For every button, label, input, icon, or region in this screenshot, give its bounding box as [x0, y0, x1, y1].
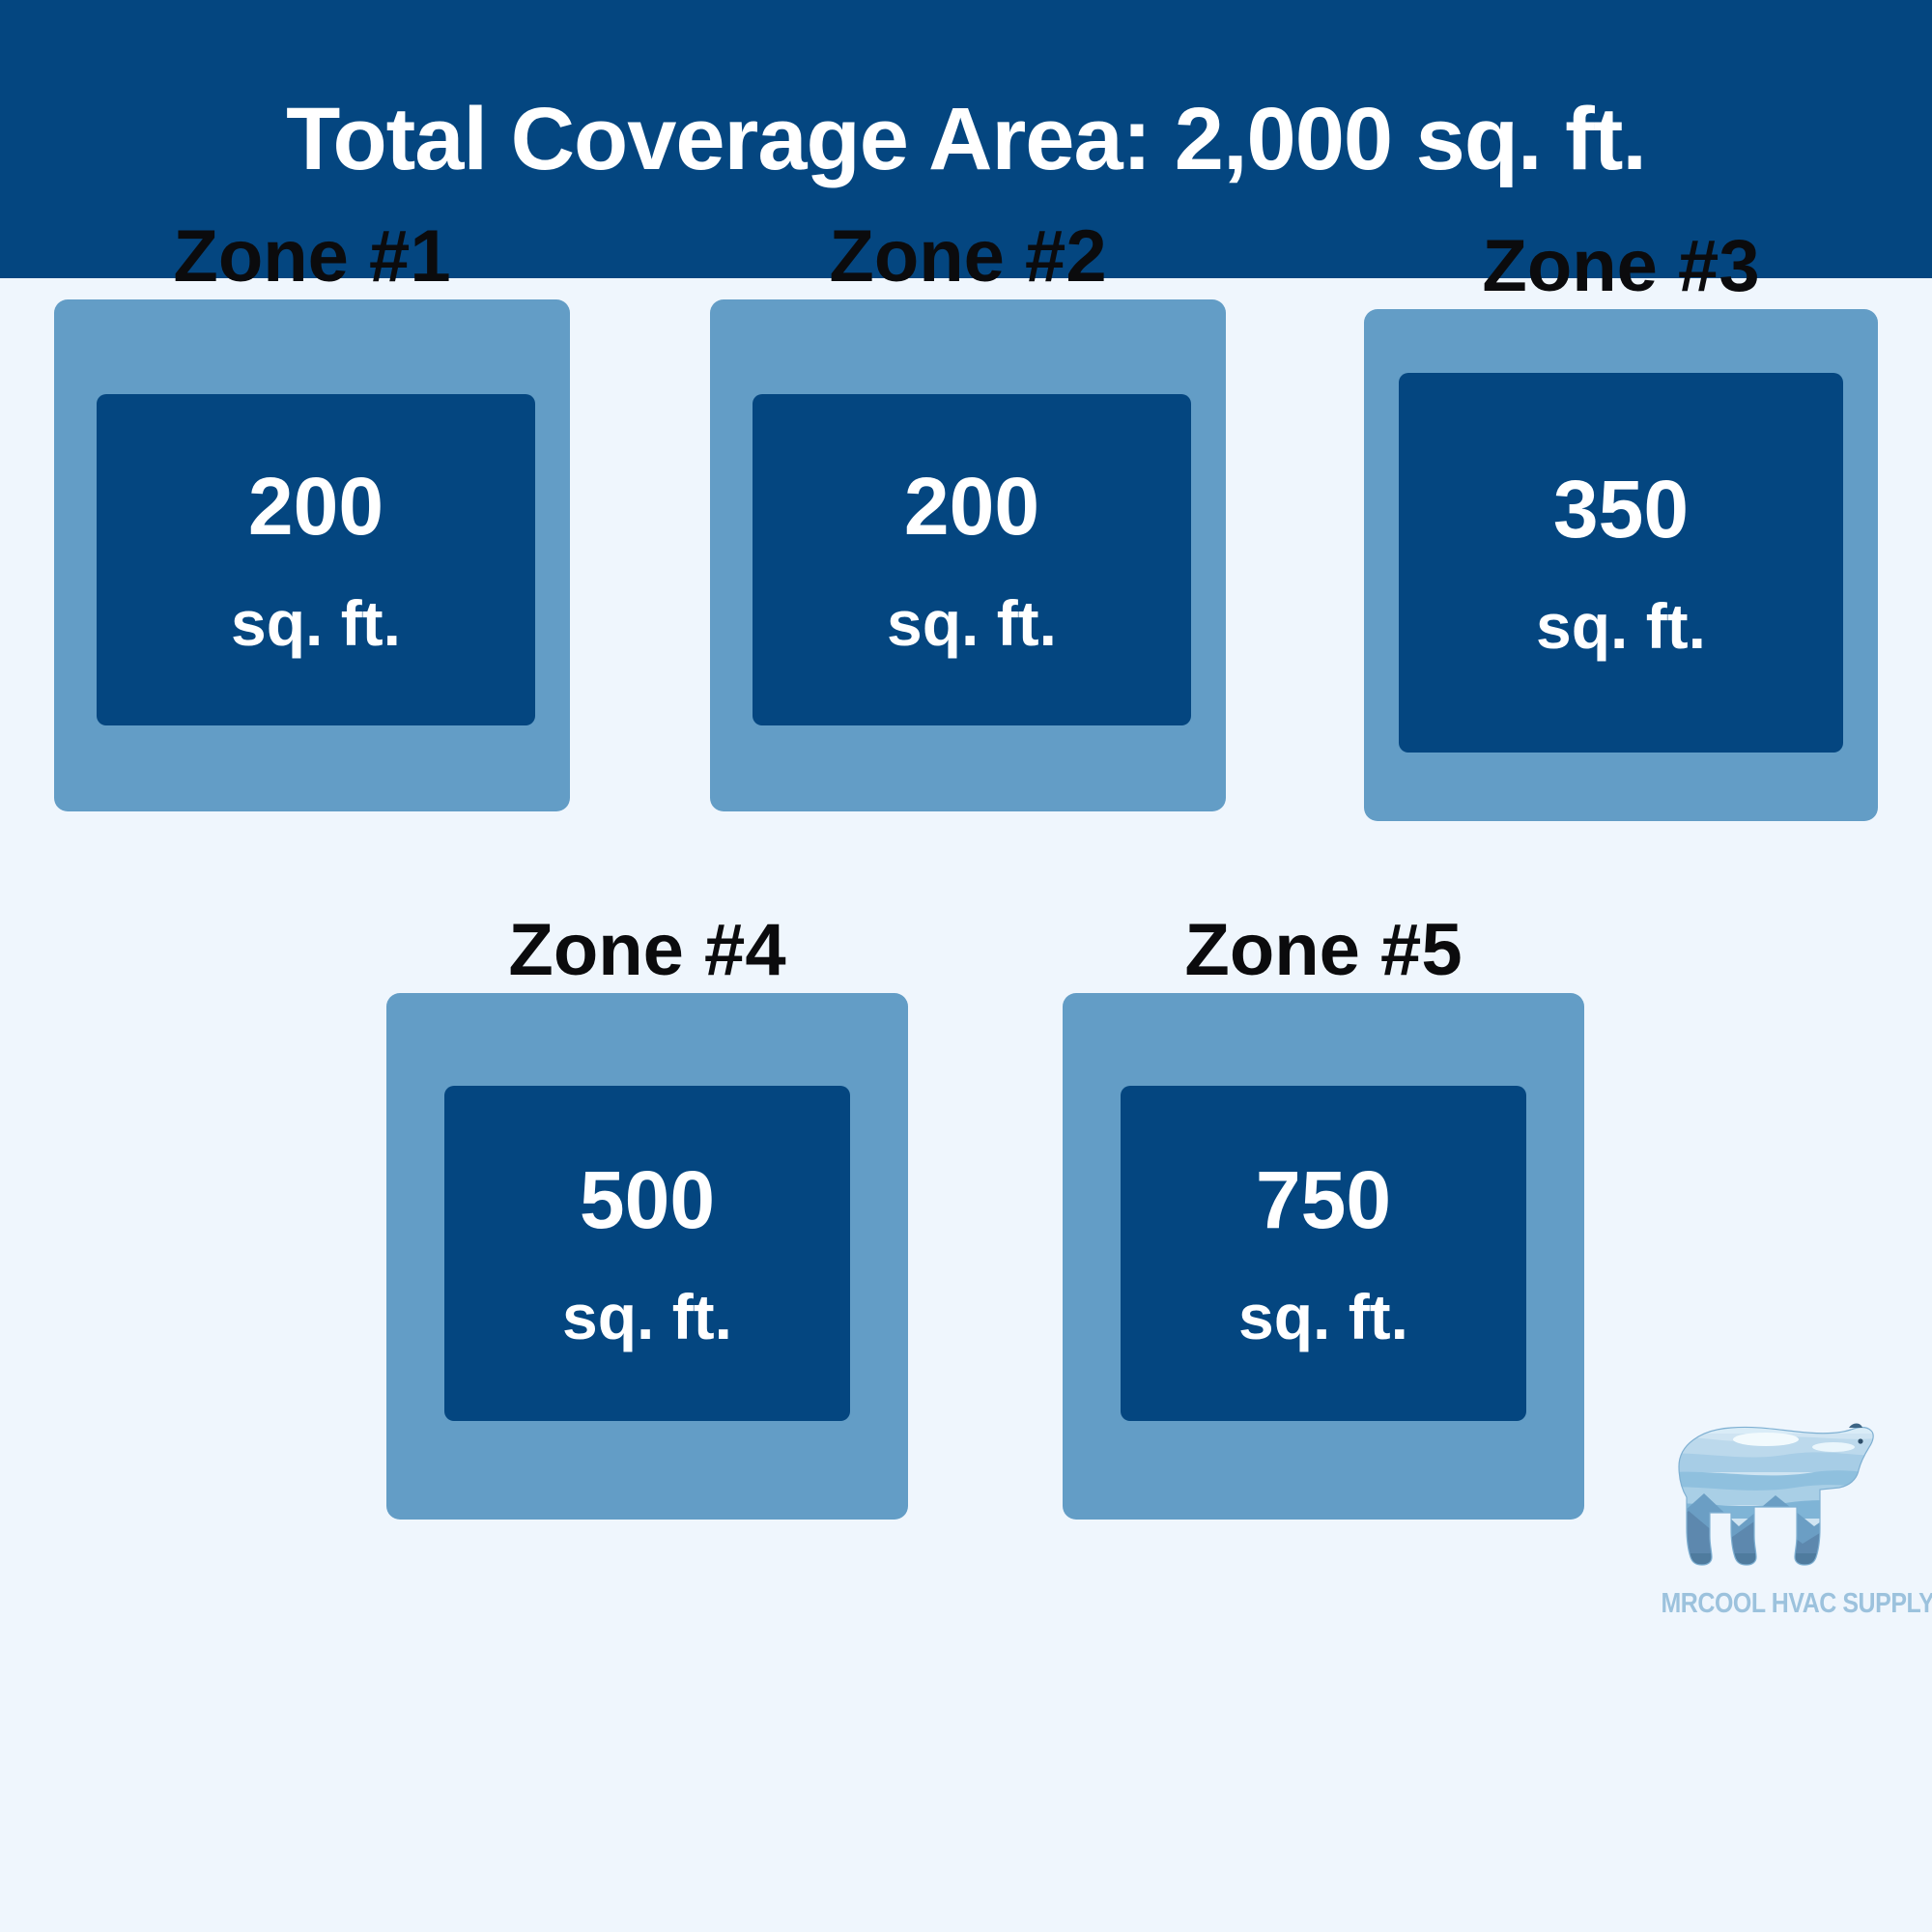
zone-card-5[interactable]: Zone #5 750 sq. ft.: [1063, 993, 1584, 1520]
zone-board: Zone #1 200 sq. ft. Zone #2 200 sq. ft. …: [0, 278, 1932, 1932]
zone-label-4: Zone #4: [386, 914, 908, 987]
polar-bear-icon: [1650, 1391, 1903, 1584]
zone-label-2: Zone #2: [710, 220, 1226, 294]
zone-card-2[interactable]: Zone #2 200 sq. ft.: [710, 299, 1226, 811]
zone-label-1: Zone #1: [54, 220, 570, 294]
zone-label-3: Zone #3: [1364, 230, 1878, 303]
zone-value-1: 200: [248, 466, 384, 547]
zone-outer-area-3: 350 sq. ft.: [1364, 309, 1878, 821]
zone-inner-area-3: 350 sq. ft.: [1399, 373, 1843, 753]
zone-outer-area-1: 200 sq. ft.: [54, 299, 570, 811]
zone-value-2: 200: [904, 466, 1039, 547]
zone-unit-4: sq. ft.: [562, 1285, 732, 1349]
zone-outer-area-2: 200 sq. ft.: [710, 299, 1226, 811]
zone-unit-1: sq. ft.: [231, 591, 401, 655]
logo-wordmark: MRCOOL HVAC SUPPLY: [1661, 1588, 1891, 1620]
zone-outer-area-4: 500 sq. ft.: [386, 993, 908, 1520]
page-title: Total Coverage Area: 2,000 sq. ft.: [286, 95, 1646, 184]
zone-inner-area-1: 200 sq. ft.: [97, 394, 535, 725]
zone-unit-3: sq. ft.: [1536, 594, 1706, 658]
zone-card-3[interactable]: Zone #3 350 sq. ft.: [1364, 309, 1878, 821]
zone-inner-area-5: 750 sq. ft.: [1121, 1086, 1526, 1421]
zone-value-3: 350: [1553, 469, 1689, 550]
zone-inner-area-2: 200 sq. ft.: [753, 394, 1191, 725]
zone-value-4: 500: [580, 1159, 715, 1240]
zone-outer-area-5: 750 sq. ft.: [1063, 993, 1584, 1520]
brand-logo: MRCOOL HVAC SUPPLY: [1642, 1391, 1913, 1640]
zone-label-5: Zone #5: [1063, 914, 1584, 987]
zone-inner-area-4: 500 sq. ft.: [444, 1086, 850, 1421]
zone-card-1[interactable]: Zone #1 200 sq. ft.: [54, 299, 570, 811]
zone-unit-5: sq. ft.: [1238, 1285, 1408, 1349]
zone-card-4[interactable]: Zone #4 500 sq. ft.: [386, 993, 908, 1520]
zone-unit-2: sq. ft.: [887, 591, 1057, 655]
zone-value-5: 750: [1256, 1159, 1391, 1240]
